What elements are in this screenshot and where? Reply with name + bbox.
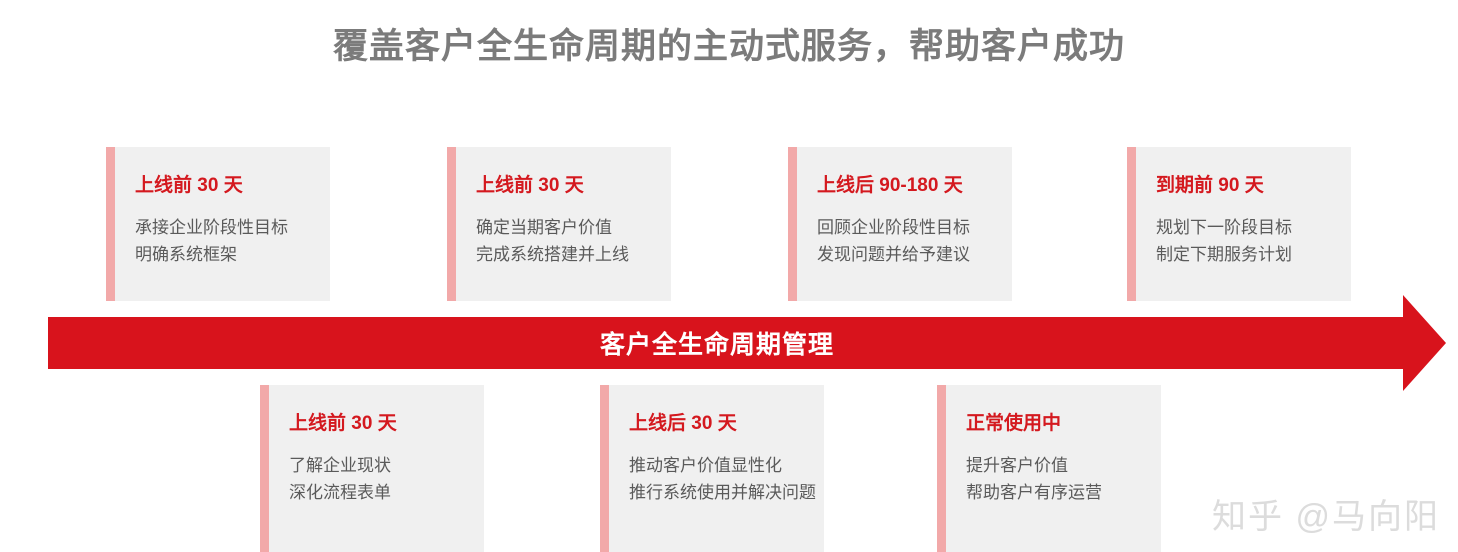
infographic-canvas: 覆盖客户全生命周期的主动式服务，帮助客户成功 上线前 30 天 承接企业阶段性目… bbox=[0, 0, 1458, 552]
card-line-1: 回顾企业阶段性目标 bbox=[817, 214, 1012, 242]
card-line-1: 规划下一阶段目标 bbox=[1156, 214, 1351, 242]
card-accent-bar bbox=[788, 147, 797, 301]
card-accent-bar bbox=[937, 385, 946, 552]
card-heading: 上线前 30 天 bbox=[135, 175, 330, 198]
timeline-card-top-1: 上线前 30 天 承接企业阶段性目标 明确系统框架 bbox=[106, 147, 330, 301]
timeline-card-top-2: 上线前 30 天 确定当期客户价值 完成系统搭建并上线 bbox=[447, 147, 671, 301]
timeline-card-top-3: 上线后 90-180 天 回顾企业阶段性目标 发现问题并给予建议 bbox=[788, 147, 1012, 301]
lifecycle-arrow-banner: 客户全生命周期管理 bbox=[48, 295, 1446, 391]
card-accent-bar bbox=[1127, 147, 1136, 301]
card-line-2: 深化流程表单 bbox=[289, 479, 484, 507]
card-body: 到期前 90 天 规划下一阶段目标 制定下期服务计划 bbox=[1136, 147, 1351, 301]
timeline-card-top-4: 到期前 90 天 规划下一阶段目标 制定下期服务计划 bbox=[1127, 147, 1351, 301]
card-accent-bar bbox=[447, 147, 456, 301]
card-line-1: 确定当期客户价值 bbox=[476, 214, 671, 242]
card-body: 上线前 30 天 了解企业现状 深化流程表单 bbox=[269, 385, 484, 552]
card-accent-bar bbox=[106, 147, 115, 301]
card-heading: 上线后 90-180 天 bbox=[817, 175, 1012, 198]
card-body: 上线后 30 天 推动客户价值显性化 推行系统使用并解决问题 bbox=[609, 385, 824, 552]
card-body: 上线前 30 天 确定当期客户价值 完成系统搭建并上线 bbox=[456, 147, 671, 301]
card-line-1: 提升客户价值 bbox=[966, 452, 1161, 480]
card-heading: 上线前 30 天 bbox=[476, 175, 671, 198]
card-accent-bar bbox=[600, 385, 609, 552]
timeline-card-bottom-1: 上线前 30 天 了解企业现状 深化流程表单 bbox=[260, 385, 484, 552]
card-line-2: 帮助客户有序运营 bbox=[966, 479, 1161, 507]
card-heading: 正常使用中 bbox=[966, 413, 1161, 436]
card-line-2: 明确系统框架 bbox=[135, 241, 330, 269]
card-body: 上线前 30 天 承接企业阶段性目标 明确系统框架 bbox=[115, 147, 330, 301]
card-heading: 到期前 90 天 bbox=[1156, 175, 1351, 198]
card-line-2: 完成系统搭建并上线 bbox=[476, 241, 671, 269]
card-line-2: 发现问题并给予建议 bbox=[817, 241, 1012, 269]
card-line-1: 了解企业现状 bbox=[289, 452, 484, 480]
card-heading: 上线后 30 天 bbox=[629, 413, 824, 436]
card-line-2: 制定下期服务计划 bbox=[1156, 241, 1351, 269]
card-line-1: 推动客户价值显性化 bbox=[629, 452, 824, 480]
card-line-1: 承接企业阶段性目标 bbox=[135, 214, 330, 242]
timeline-card-bottom-2: 上线后 30 天 推动客户价值显性化 推行系统使用并解决问题 bbox=[600, 385, 824, 552]
card-body: 正常使用中 提升客户价值 帮助客户有序运营 bbox=[946, 385, 1161, 552]
card-heading: 上线前 30 天 bbox=[289, 413, 484, 436]
watermark: 知乎 @马向阳 bbox=[1212, 489, 1440, 538]
card-accent-bar bbox=[260, 385, 269, 552]
page-title: 覆盖客户全生命周期的主动式服务，帮助客户成功 bbox=[0, 18, 1458, 69]
card-line-2: 推行系统使用并解决问题 bbox=[629, 479, 824, 507]
timeline-card-bottom-3: 正常使用中 提升客户价值 帮助客户有序运营 bbox=[937, 385, 1161, 552]
right-arrow-icon bbox=[48, 295, 1446, 391]
card-body: 上线后 90-180 天 回顾企业阶段性目标 发现问题并给予建议 bbox=[797, 147, 1012, 301]
